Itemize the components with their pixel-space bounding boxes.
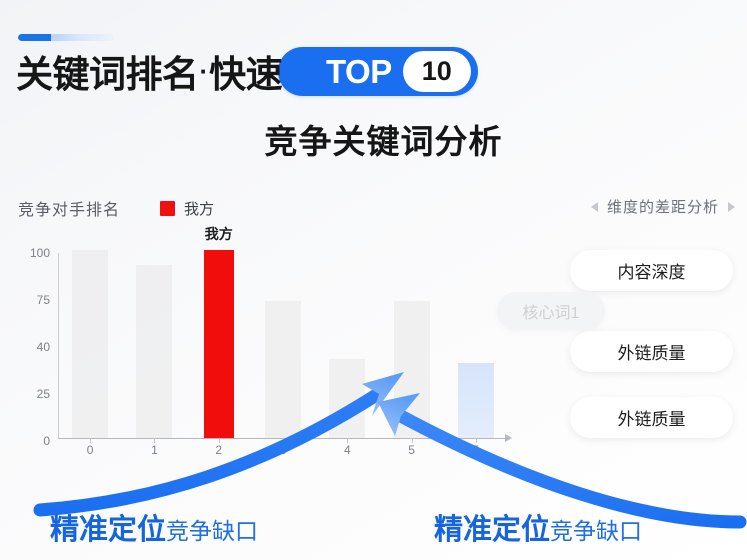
bar-target	[458, 363, 494, 438]
page-title-main: 关键词排名	[16, 56, 199, 93]
chart-title: 竞争对手排名	[18, 196, 120, 220]
accent-solid-segment	[18, 34, 51, 41]
badge-label: TOP	[326, 55, 392, 88]
dimension-pill-label: 外链质量	[618, 405, 686, 430]
chart-plot-area: 我方	[58, 250, 508, 438]
dimension-pill-label: 外链质量	[618, 339, 686, 364]
y-axis: 1007540250	[16, 250, 56, 438]
dimension-pill-2[interactable]: 外链质量	[570, 397, 733, 438]
x-axis-tick-mark	[90, 438, 91, 443]
panel-header: 维度的差距分析	[591, 196, 735, 217]
x-axis-tick-mark	[347, 438, 348, 443]
chart-header: 竞争对手排名 我方	[18, 196, 214, 220]
x-axis-tick-mark	[283, 438, 284, 443]
y-axis-tick: 0	[43, 434, 50, 448]
x-axis-tick-mark	[412, 438, 413, 443]
dimension-pill-0[interactable]: 内容深度	[570, 250, 733, 291]
legend-swatch-icon	[160, 201, 175, 216]
caption-left-weak: 竞争缺口	[166, 512, 258, 546]
accent-progress-bar	[18, 34, 114, 41]
caption-right-weak: 竞争缺口	[550, 512, 642, 546]
x-axis-tick-mark	[219, 438, 220, 443]
bar-competitor	[72, 250, 108, 438]
bar-competitor	[394, 301, 430, 438]
x-axis-tick: 1	[151, 443, 158, 457]
x-axis-tick-mark	[154, 438, 155, 443]
page-title-separator: ·	[199, 56, 210, 87]
bar-mine: 我方	[204, 250, 234, 438]
x-axis-tick-mark	[476, 438, 477, 443]
page-title-tail: 快速	[209, 56, 282, 93]
chart-legend: 我方	[160, 198, 214, 219]
page-title: 关键词排名 · 快速	[16, 48, 282, 100]
bar-competitor	[136, 265, 172, 438]
x-axis-tick: 3	[280, 443, 287, 457]
bar-competitor	[265, 301, 301, 438]
caption-left-strong: 精准定位	[50, 506, 166, 548]
page-subtitle: 竞争关键词分析	[0, 115, 747, 163]
accent-fade-segment	[51, 34, 114, 41]
x-axis-tick: 5	[473, 443, 480, 457]
bar-competitor	[329, 359, 365, 438]
y-axis-tick: 25	[37, 387, 50, 401]
legend-label: 我方	[184, 198, 214, 219]
x-axis-tick: 0	[87, 443, 94, 457]
y-axis-tick: 75	[37, 293, 50, 307]
dimension-pill-label: 内容深度	[618, 258, 686, 283]
dimension-pill-1[interactable]: 外链质量	[570, 331, 733, 372]
x-axis-tick: 2	[215, 443, 222, 457]
caption-left: 精准定位 竞争缺口	[50, 506, 258, 548]
keyword-ghost-pill-label: 核心词1	[523, 299, 580, 323]
keyword-ghost-pill[interactable]: 核心词1	[497, 292, 605, 330]
caption-right: 精准定位 竞争缺口	[434, 506, 642, 548]
top-rank-badge: TOP 10	[278, 47, 478, 96]
bar-chart: 1007540250 我方 0123455	[16, 250, 516, 465]
panel-title: 维度的差距分析	[607, 196, 719, 217]
slide-canvas: 关键词排名 · 快速 TOP 10 竞争关键词分析 竞争对手排名 我方 1007…	[0, 0, 747, 560]
x-axis-tick: 5	[408, 443, 415, 457]
bar-mine-label: 我方	[205, 224, 233, 244]
chevron-right-icon[interactable]	[728, 202, 735, 212]
caption-right-strong: 精准定位	[434, 506, 550, 548]
y-axis-tick: 100	[30, 246, 50, 260]
y-axis-tick: 40	[37, 340, 50, 354]
x-axis-tick: 4	[344, 443, 351, 457]
chevron-left-icon[interactable]	[591, 202, 598, 212]
badge-value: 10	[403, 51, 471, 92]
